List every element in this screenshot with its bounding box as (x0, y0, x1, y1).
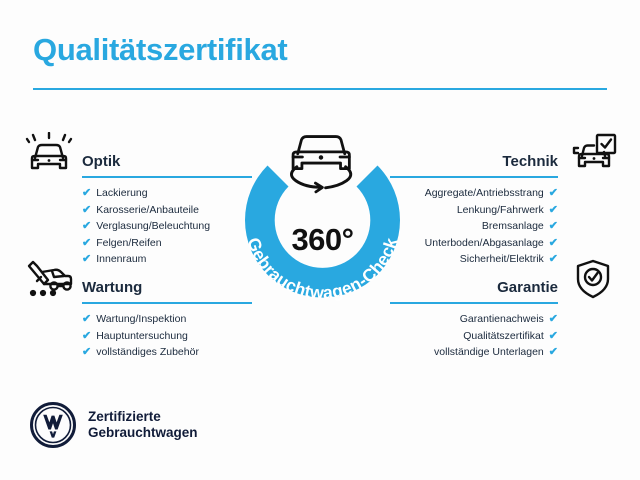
check-icon: ✔ (82, 311, 91, 328)
section-title-garantie: Garantie (497, 279, 558, 296)
list-item: ✔Verglasung/Beleuchtung (22, 218, 252, 235)
list-item: Bremsanlage✔ (390, 218, 620, 235)
header-divider (33, 88, 607, 90)
section-title-wartung: Wartung (82, 279, 142, 296)
list-item: ✔Lackierung (22, 185, 252, 202)
list-item: ✔Felgen/Reifen (22, 235, 252, 252)
list-item-label: Lenkung/Fahrwerk (457, 202, 544, 219)
checklist-wartung: ✔Wartung/Inspektion ✔Hauptuntersuchung ✔… (22, 311, 252, 361)
check-icon: ✔ (549, 344, 558, 361)
section-garantie: Garantie Garantienachweis✔ Qualitätszert… (390, 258, 620, 361)
list-item-label: vollständiges Zubehör (96, 344, 199, 361)
list-item-label: Karosserie/Anbauteile (96, 202, 199, 219)
checklist-garantie: Garantienachweis✔ Qualitätszertifikat✔ v… (390, 311, 620, 361)
list-item: Aggregate/Antriebsstrang✔ (390, 185, 620, 202)
check-icon: ✔ (549, 311, 558, 328)
list-item: ✔Wartung/Inspektion (22, 311, 252, 328)
section-wartung: Wartung ✔Wartung/Inspektion ✔Hauptunters… (22, 258, 252, 361)
section-header: Wartung (22, 258, 252, 304)
list-item: Unterboden/Abgasanlage✔ (390, 235, 620, 252)
check-icon: ✔ (82, 218, 91, 235)
list-item: Garantienachweis✔ (390, 311, 620, 328)
check-icon: ✔ (549, 235, 558, 252)
list-item-label: Unterboden/Abgasanlage (425, 235, 544, 252)
vw-logo (30, 402, 76, 448)
section-header: Garantie (390, 258, 620, 304)
page-title: Qualitätszertifikat (33, 32, 287, 68)
check-icon: ✔ (549, 202, 558, 219)
list-item: Lenkung/Fahrwerk✔ (390, 202, 620, 219)
shield-check-icon (568, 258, 618, 302)
check-icon: ✔ (549, 185, 558, 202)
checklist-optik: ✔Lackierung ✔Karosserie/Anbauteile ✔Verg… (22, 185, 252, 268)
list-item-label: vollständige Unterlagen (434, 344, 544, 361)
360-check-badge: Gebrauchtwagen-Check 360° (225, 116, 420, 316)
section-header: Optik (22, 132, 252, 178)
section-optik: Optik ✔Lackierung ✔Karosserie/Anbauteile… (22, 132, 252, 268)
check-icon: ✔ (82, 185, 91, 202)
list-item-label: Qualitätszertifikat (463, 328, 544, 345)
list-item-label: Garantienachweis (460, 311, 544, 328)
badge-center-text: 360° (225, 222, 420, 258)
check-icon: ✔ (82, 344, 91, 361)
list-item-label: Wartung/Inspektion (96, 311, 186, 328)
list-item: Qualitätszertifikat✔ (390, 328, 620, 345)
list-item-label: Aggregate/Antriebsstrang (425, 185, 544, 202)
car-shine-icon (24, 132, 74, 176)
list-item: ✔Karosserie/Anbauteile (22, 202, 252, 219)
list-item: ✔Hauptuntersuchung (22, 328, 252, 345)
list-item-label: Felgen/Reifen (96, 235, 161, 252)
section-technik: Technik Aggregate/Antriebsstrang✔ Lenkun… (390, 132, 620, 268)
list-item-label: Bremsanlage (482, 218, 544, 235)
check-icon: ✔ (549, 218, 558, 235)
check-icon: ✔ (82, 328, 91, 345)
check-icon: ✔ (82, 202, 91, 219)
list-item-label: Verglasung/Beleuchtung (96, 218, 210, 235)
check-icon: ✔ (549, 328, 558, 345)
vw-brand-lockup: Zertifizierte Gebrauchtwagen (30, 402, 198, 448)
car-rotation-icon (291, 137, 350, 192)
list-item-label: Hauptuntersuchung (96, 328, 188, 345)
car-service-pen-icon (24, 258, 74, 302)
section-title-optik: Optik (82, 153, 120, 170)
certificate-page: Qualitätszertifikat Optik ✔Lackierung ✔K… (0, 0, 640, 480)
list-item-label: Lackierung (96, 185, 147, 202)
checklist-technik: Aggregate/Antriebsstrang✔ Lenkung/Fahrwe… (390, 185, 620, 268)
section-header: Technik (390, 132, 620, 178)
vw-brand-text: Zertifizierte Gebrauchtwagen (88, 409, 198, 441)
car-checkbox-icon (568, 132, 618, 176)
check-icon: ✔ (82, 235, 91, 252)
vw-brand-line2: Gebrauchtwagen (88, 425, 198, 440)
list-item: vollständige Unterlagen✔ (390, 344, 620, 361)
section-title-technik: Technik (502, 153, 558, 170)
list-item: ✔vollständiges Zubehör (22, 344, 252, 361)
vw-brand-line1: Zertifizierte (88, 409, 161, 424)
